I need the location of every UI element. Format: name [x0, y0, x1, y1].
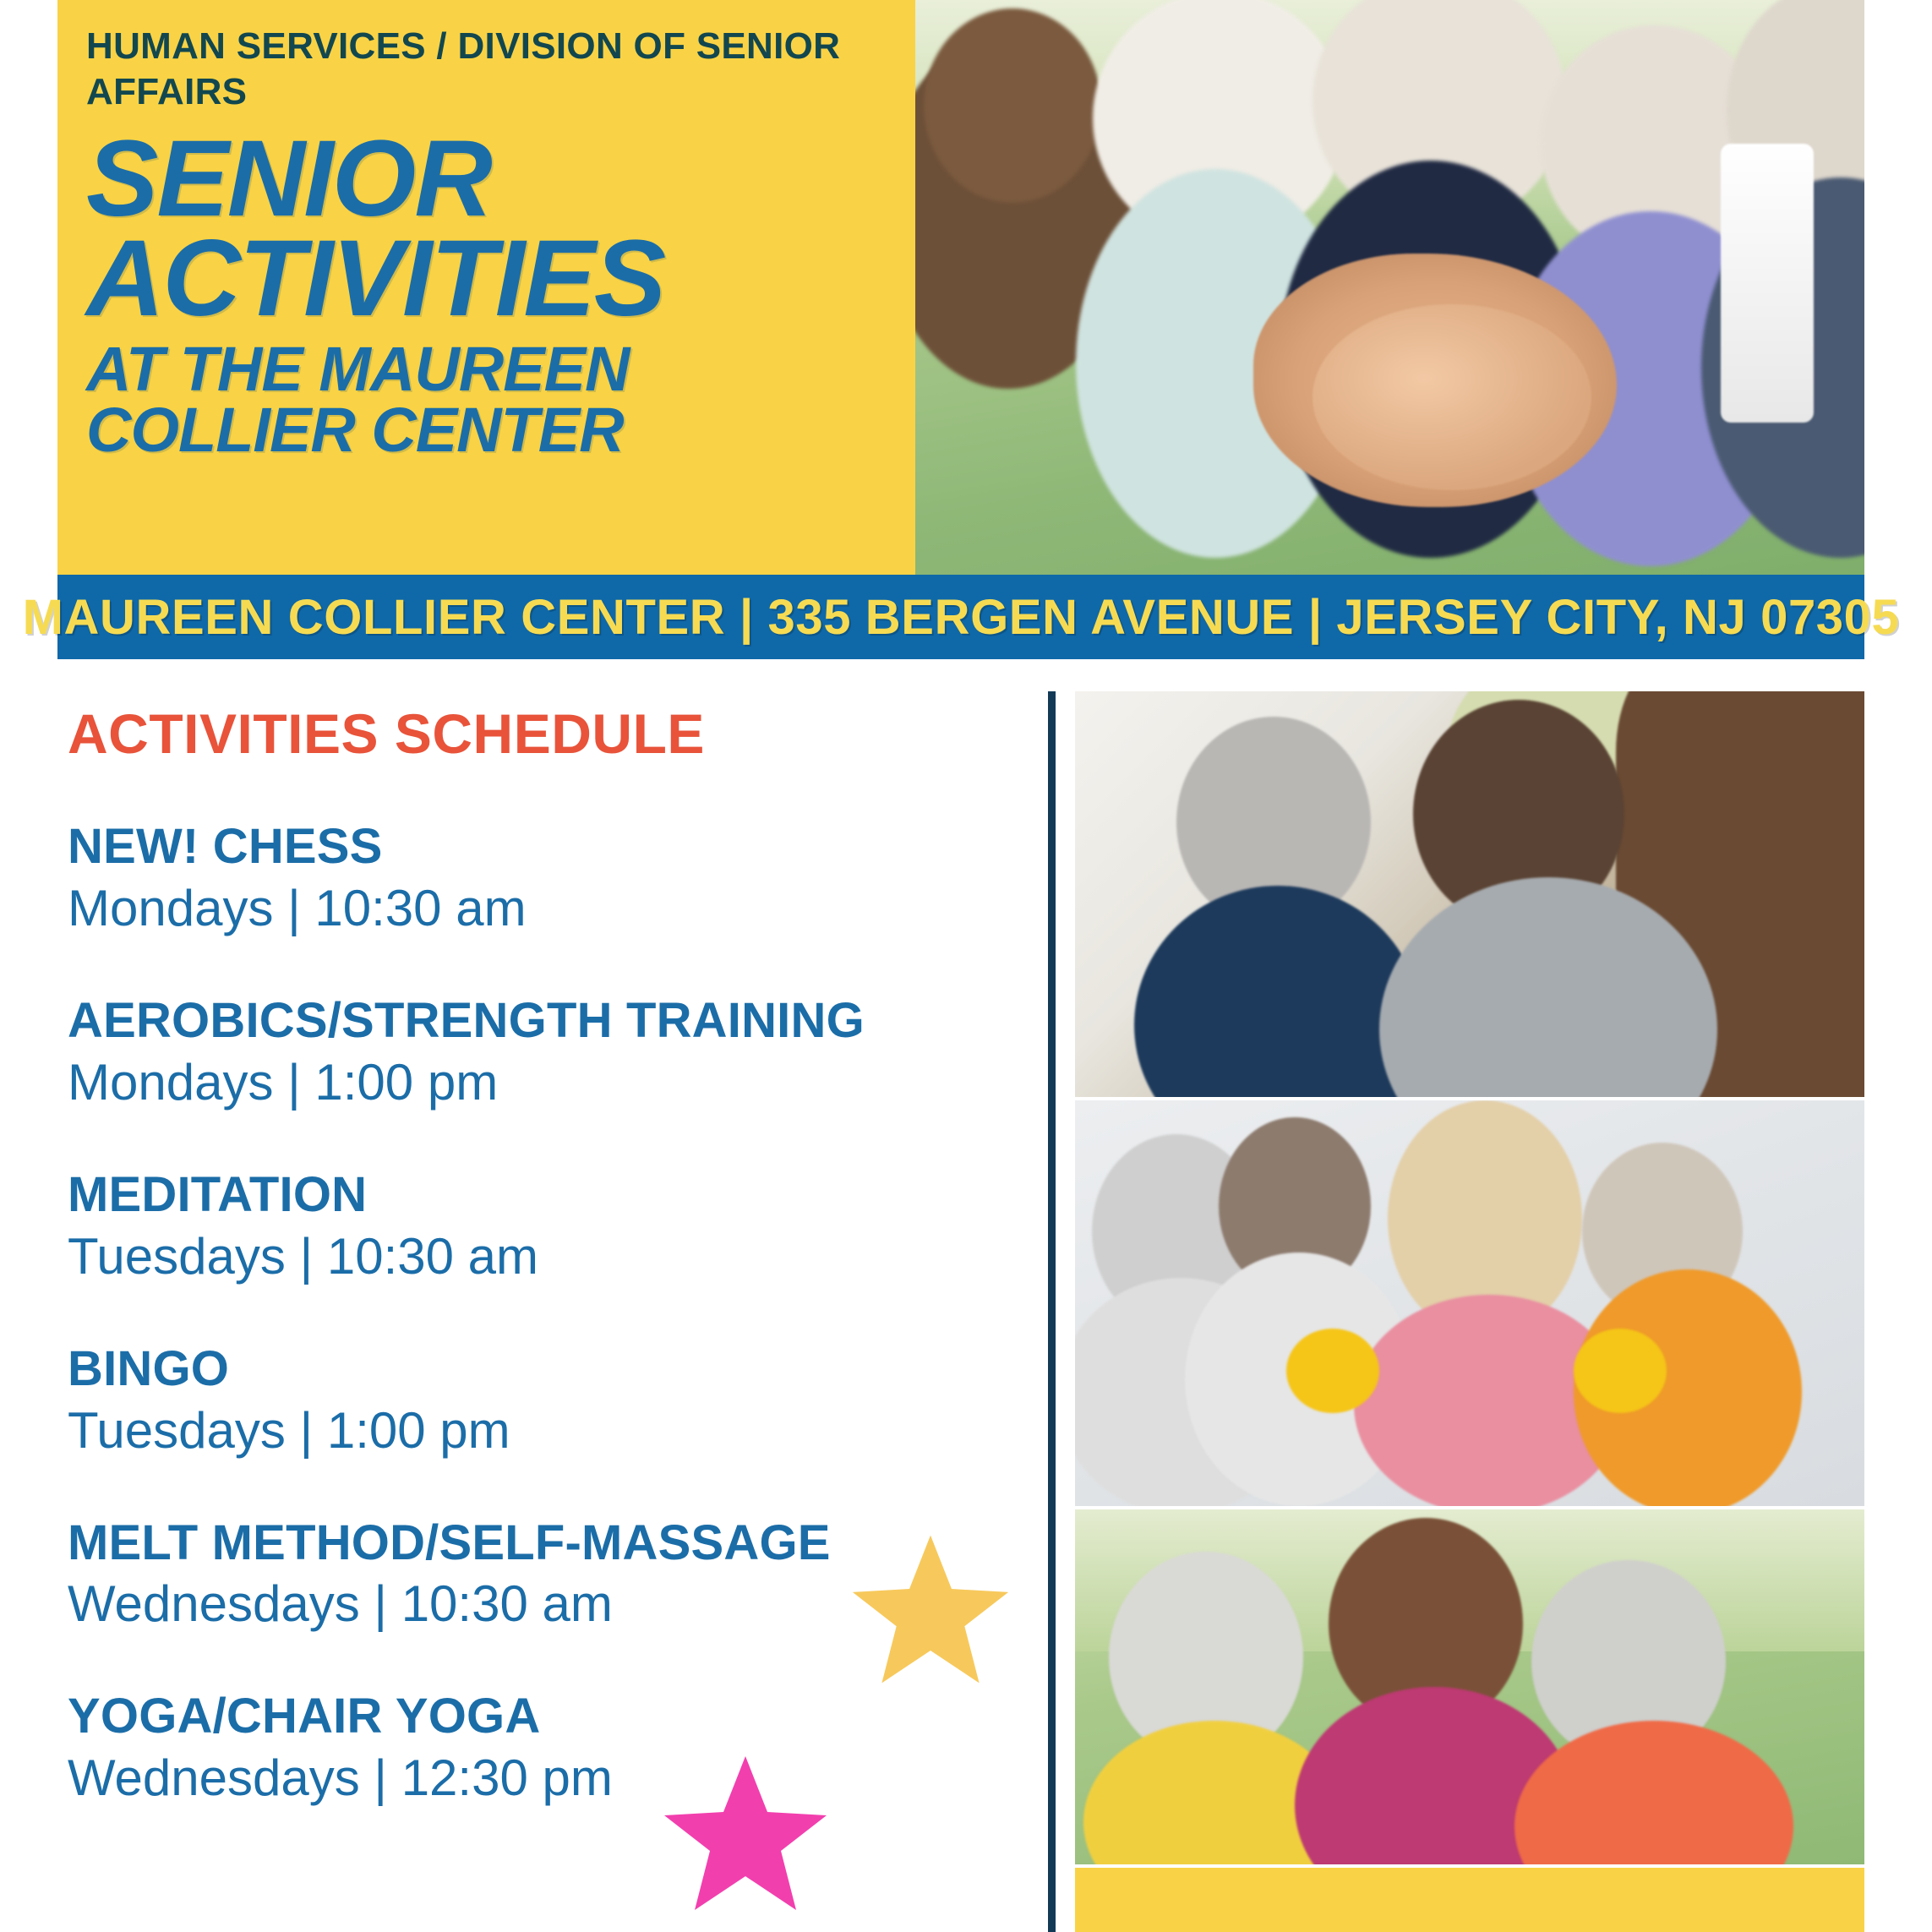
page-subtitle-line2: COLLIER CENTER	[86, 400, 887, 461]
header-photo-towel	[1721, 144, 1814, 423]
header-photo	[915, 0, 1864, 575]
star-icon	[849, 1531, 1012, 1689]
header-photo-stacked-hands-highlight	[1313, 304, 1591, 490]
photo-1-woman-body	[1134, 886, 1422, 1097]
page-title-line2: ACTIVITIES	[86, 229, 887, 329]
activity-name: MEDITATION	[68, 1170, 1023, 1221]
header-title-block: HUMAN SERVICES / DIVISION OF SENIOR AFFA…	[57, 0, 915, 575]
flyer-page: HUMAN SERVICES / DIVISION OF SENIOR AFFA…	[0, 0, 1932, 1932]
activity-item: AEROBICS/STRENGTH TRAINING Mondays | 1:0…	[68, 996, 1023, 1109]
photo-3-woman-3-body	[1514, 1721, 1793, 1864]
header-photo-person-1-body	[924, 8, 1101, 203]
address-bar: MAUREEN COLLIER CENTER | 335 BERGEN AVEN…	[57, 575, 1864, 659]
activity-time: Mondays | 1:00 pm	[68, 1056, 1023, 1109]
activity-item: NEW! CHESS Mondays | 10:30 am	[68, 821, 1023, 935]
column-divider	[1048, 691, 1056, 1932]
activity-name: BINGO	[68, 1344, 1023, 1395]
star-icon	[661, 1751, 830, 1917]
photo-column	[1075, 691, 1864, 1932]
photo-2-dumbbell-right	[1574, 1329, 1667, 1413]
page-title: SENIOR ACTIVITIES	[86, 129, 887, 329]
schedule-heading: ACTIVITIES SCHEDULE	[68, 701, 1023, 766]
page-subtitle-line1: AT THE MAUREEN	[86, 339, 887, 401]
activity-time: Wednesdays | 12:30 pm	[68, 1751, 1023, 1804]
photo-exercise-class	[1075, 1100, 1864, 1506]
activity-time: Tuesdays | 10:30 am	[68, 1230, 1023, 1283]
page-title-line1: SENIOR	[86, 129, 887, 229]
department-kicker: HUMAN SERVICES / DIVISION OF SENIOR AFFA…	[86, 24, 887, 114]
activity-name: NEW! CHESS	[68, 821, 1023, 873]
activity-time: Tuesdays | 1:00 pm	[68, 1404, 1023, 1457]
activity-name: YOGA/CHAIR YOGA	[68, 1691, 1023, 1743]
activity-item: MEDITATION Tuesdays | 10:30 am	[68, 1170, 1023, 1283]
activity-item: YOGA/CHAIR YOGA Wednesdays | 12:30 pm	[68, 1691, 1023, 1804]
flyer-header: HUMAN SERVICES / DIVISION OF SENIOR AFFA…	[57, 0, 1864, 575]
address-text: MAUREEN COLLIER CENTER | 335 BERGEN AVEN…	[23, 589, 1900, 646]
page-subtitle: AT THE MAUREEN COLLIER CENTER	[86, 339, 887, 461]
activity-name: AEROBICS/STRENGTH TRAINING	[68, 996, 1023, 1047]
activity-time: Mondays | 10:30 am	[68, 881, 1023, 935]
photo-friends-hugging	[1075, 1509, 1864, 1864]
schedule-column: ACTIVITIES SCHEDULE NEW! CHESS Mondays |…	[68, 701, 1023, 1865]
bottom-yellow-band	[1075, 1868, 1864, 1932]
activity-item: BINGO Tuesdays | 1:00 pm	[68, 1344, 1023, 1457]
photo-2-dumbbell-left	[1286, 1329, 1379, 1413]
photo-seniors-talking	[1075, 691, 1864, 1097]
